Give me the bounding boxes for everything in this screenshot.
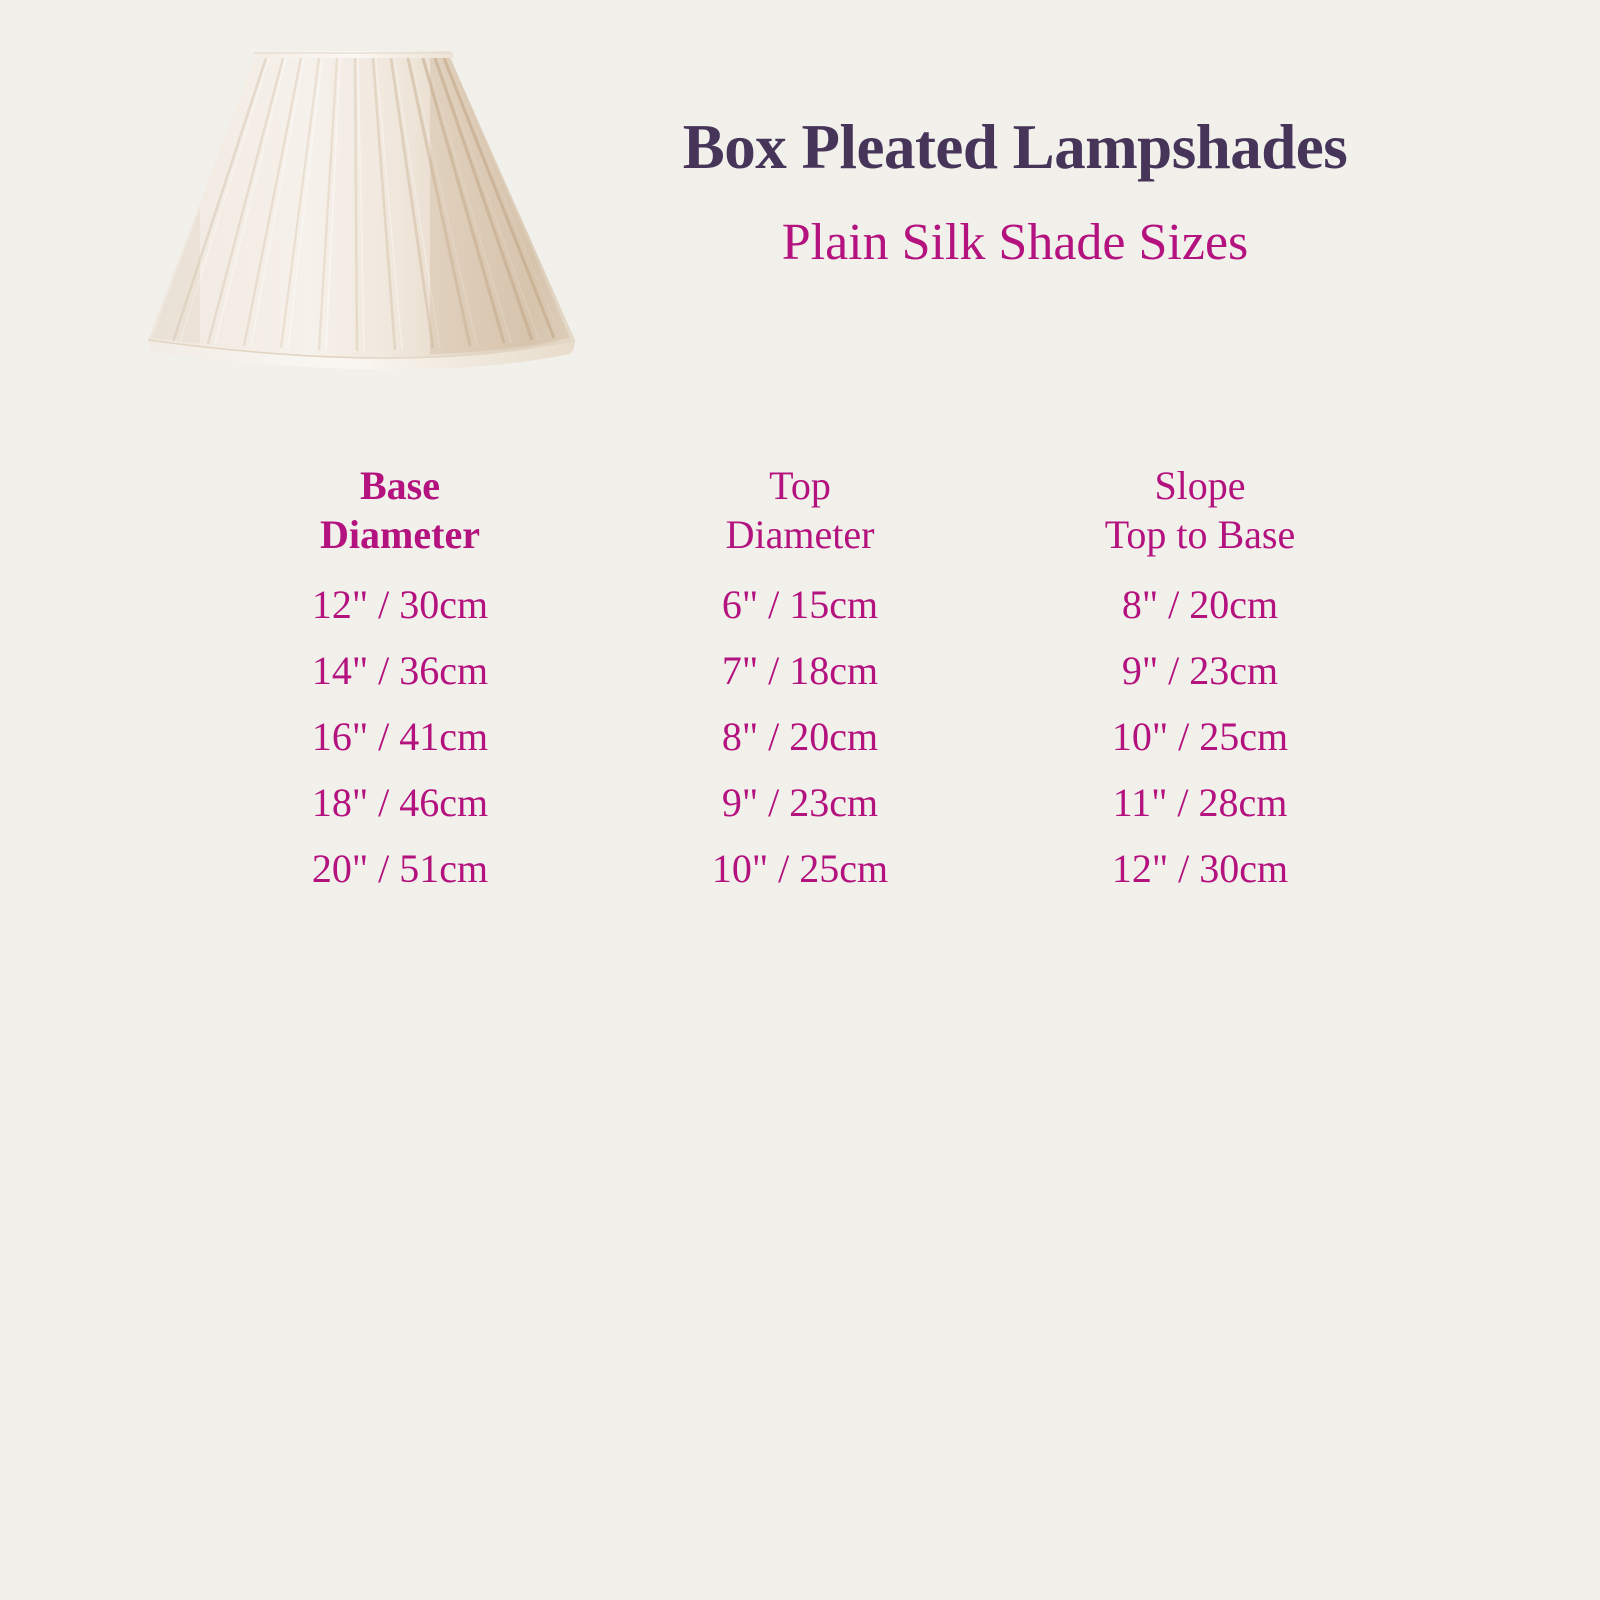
page-subtitle: Plain Silk Shade Sizes	[540, 213, 1490, 273]
size-value: 16" / 41cm	[200, 704, 600, 770]
size-value: 9" / 23cm	[1000, 638, 1400, 704]
size-value: 6" / 15cm	[600, 572, 1000, 638]
size-value: 11" / 28cm	[1000, 770, 1400, 836]
size-value: 12" / 30cm	[1000, 836, 1400, 902]
page-title: Box Pleated Lampshades	[540, 112, 1490, 183]
size-value-list: 12" / 30cm 14" / 36cm 16" / 41cm 18" / 4…	[200, 572, 600, 902]
shade-body	[130, 20, 600, 380]
column-header-line2: Diameter	[600, 511, 1000, 560]
column-header-slope: Slope Top to Base	[1000, 462, 1400, 560]
size-value: 20" / 51cm	[200, 836, 600, 902]
column-header-top-diameter: Top Diameter	[600, 462, 1000, 560]
size-value: 10" / 25cm	[1000, 704, 1400, 770]
size-value: 9" / 23cm	[600, 770, 1000, 836]
size-value: 14" / 36cm	[200, 638, 600, 704]
lampshade-product-image	[130, 20, 600, 380]
size-value-list: 6" / 15cm 7" / 18cm 8" / 20cm 9" / 23cm …	[600, 572, 1000, 902]
column-header-line2: Diameter	[200, 511, 600, 560]
size-column-top-diameter: Top Diameter 6" / 15cm 7" / 18cm 8" / 20…	[600, 462, 1000, 902]
column-header-base-diameter: Base Diameter	[200, 462, 600, 560]
size-column-base-diameter: Base Diameter 12" / 30cm 14" / 36cm 16" …	[200, 462, 600, 902]
column-header-line2: Top to Base	[1000, 511, 1400, 560]
shade-size-table: Base Diameter 12" / 30cm 14" / 36cm 16" …	[200, 462, 1440, 902]
size-value: 12" / 30cm	[200, 572, 600, 638]
size-value: 8" / 20cm	[600, 704, 1000, 770]
shade-top-rim	[251, 51, 454, 58]
column-header-line1: Slope	[1000, 462, 1400, 511]
heading-block: Box Pleated Lampshades Plain Silk Shade …	[540, 112, 1490, 272]
size-value: 10" / 25cm	[600, 836, 1000, 902]
column-header-line1: Top	[600, 462, 1000, 511]
size-value: 7" / 18cm	[600, 638, 1000, 704]
column-header-line1: Base	[200, 462, 600, 511]
lampshade-size-guide-page: Box Pleated Lampshades Plain Silk Shade …	[0, 0, 1600, 1600]
size-value: 18" / 46cm	[200, 770, 600, 836]
size-value-list: 8" / 20cm 9" / 23cm 10" / 25cm 11" / 28c…	[1000, 572, 1400, 902]
size-column-slope: Slope Top to Base 8" / 20cm 9" / 23cm 10…	[1000, 462, 1400, 902]
size-value: 8" / 20cm	[1000, 572, 1400, 638]
